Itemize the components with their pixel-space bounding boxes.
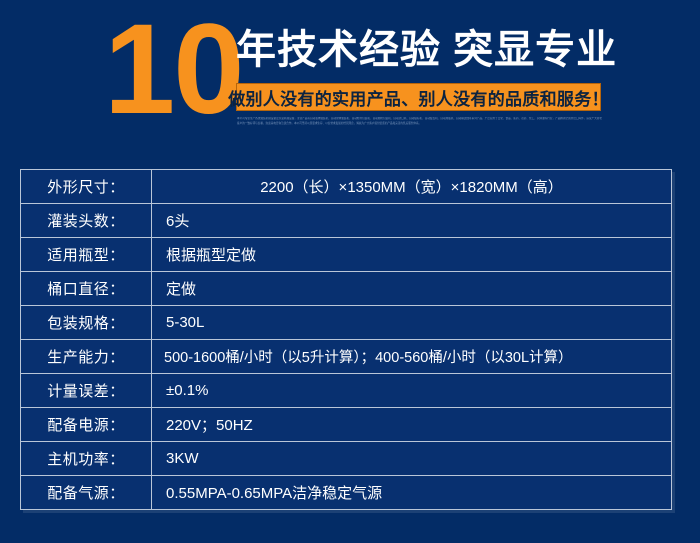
spec-value: 2200（长）×1350MM（宽）×1820MM（高） [152,170,672,204]
years-number: 10 [104,6,242,134]
promo-banner: 10 年技术经验 突显专业 做别人没有的实用产品、别人没有的品质和服务！ 本公司… [0,0,700,160]
banner-subbar: 做别人没有的实用产品、别人没有的品质和服务！ [236,83,601,111]
spec-value: 定做 [152,272,672,306]
banner-fineprint: 本公司专业生产各类灌装机械设备及包装机械设备，主营产品有自动液体灌装机、自动膏体… [237,117,602,132]
spec-label: 灌装头数： [21,204,152,238]
banner-headline: 年技术经验 突显专业 [236,26,617,74]
specification-table-body: 外形尺寸：2200（长）×1350MM（宽）×1820MM（高）灌装头数：6头适… [21,170,672,510]
spec-value: 6头 [152,204,672,238]
banner-subbar-text: 做别人没有的实用产品、别人没有的品质和服务！ [228,85,609,110]
spec-value: 根据瓶型定做 [152,238,672,272]
table-row: 生产能力：500-1600桶/小时（以5升计算）；400-560桶/小时（以30… [21,340,672,374]
spec-label: 适用瓶型： [21,238,152,272]
spec-value: 5-30L [152,306,672,340]
spec-label: 主机功率： [21,442,152,476]
table-row: 桶口直径：定做 [21,272,672,306]
spec-value: 3KW [152,442,672,476]
spec-value: ±0.1% [152,374,672,408]
table-row: 包装规格：5-30L [21,306,672,340]
table-row: 主机功率：3KW [21,442,672,476]
spec-label: 计量误差： [21,374,152,408]
spec-value: 220V；50HZ [152,408,672,442]
table-row: 外形尺寸：2200（长）×1350MM（宽）×1820MM（高） [21,170,672,204]
spec-label: 外形尺寸： [21,170,152,204]
spec-label: 配备气源： [21,476,152,510]
table-row: 适用瓶型：根据瓶型定做 [21,238,672,272]
spec-label: 配备电源： [21,408,152,442]
table-row: 配备电源：220V；50HZ [21,408,672,442]
spec-label: 包装规格： [21,306,152,340]
specification-table: 外形尺寸：2200（长）×1350MM（宽）×1820MM（高）灌装头数：6头适… [20,169,672,510]
spec-value: 0.55MPA-0.65MPA洁净稳定气源 [152,476,672,510]
spec-label: 生产能力： [21,340,152,374]
table-row: 灌装头数：6头 [21,204,672,238]
spec-label: 桶口直径： [21,272,152,306]
product-spec-page: 10 年技术经验 突显专业 做别人没有的实用产品、别人没有的品质和服务！ 本公司… [0,0,700,543]
spec-value: 500-1600桶/小时（以5升计算）；400-560桶/小时（以30L计算） [152,340,672,374]
table-row: 配备气源：0.55MPA-0.65MPA洁净稳定气源 [21,476,672,510]
table-row: 计量误差：±0.1% [21,374,672,408]
